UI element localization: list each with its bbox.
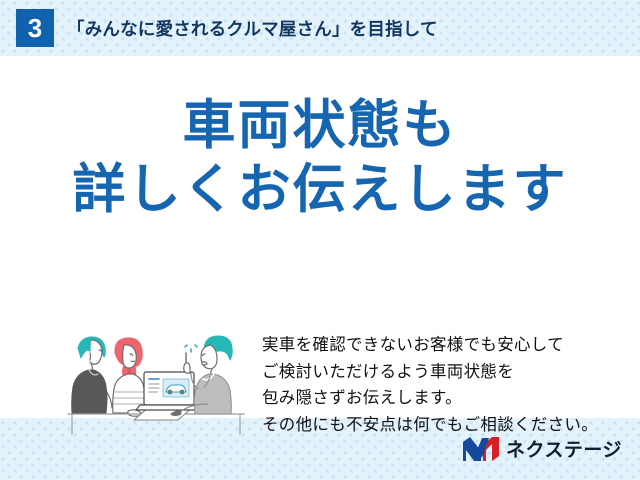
body-line-2: ご検討いただけるよう車両状態を xyxy=(262,359,622,386)
step-number-badge: 3 xyxy=(16,9,54,47)
body-line-3: 包み隠さずお伝えします。 xyxy=(262,385,622,412)
slide-root: 3 「みんなに愛されるクルマ屋さん」を目指して 車両状態も 詳しくお伝えします xyxy=(0,0,640,480)
headline-line-2: 詳しくお伝えします xyxy=(0,158,640,222)
nextage-logo-text: ネクステージ xyxy=(506,435,622,462)
header: 3 「みんなに愛されるクルマ屋さん」を目指して xyxy=(0,0,640,56)
headline: 車両状態も 詳しくお伝えします xyxy=(0,94,640,221)
nextage-logo: ネクステージ xyxy=(462,435,622,462)
headline-line-1: 車両状態も xyxy=(0,94,640,158)
lower-section: 実車を確認できないお客様でも安心して ご検討いただけるよう車両状態を 包み隠さず… xyxy=(0,271,640,411)
body-line-1: 実車を確認できないお客様でも安心して xyxy=(262,332,622,359)
content-panel: 車両状態も 詳しくお伝えします xyxy=(0,56,640,418)
nextage-n-mark-icon xyxy=(462,436,500,462)
header-title: 「みんなに愛されるクルマ屋さん」を目指して xyxy=(67,16,438,41)
footer: ネクステージ xyxy=(0,418,640,480)
